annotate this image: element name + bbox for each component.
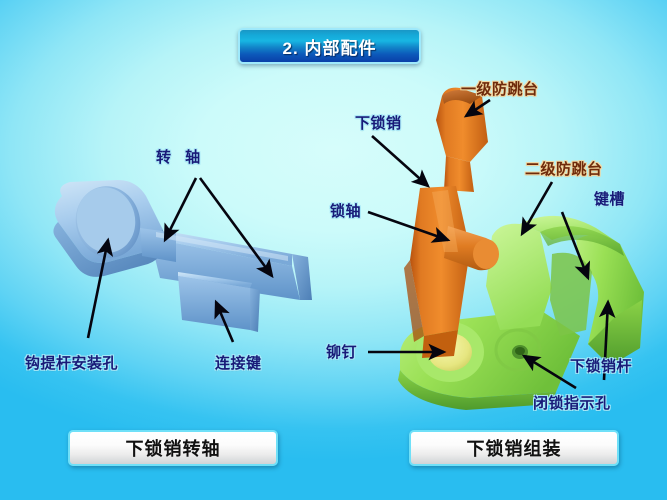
label-rivet: 铆钉 xyxy=(326,341,357,362)
label-secondary-anti-jump: 二级防跳台 xyxy=(525,158,603,179)
label-key-slot: 键槽 xyxy=(594,188,625,209)
right-caption-text: 下锁销组装 xyxy=(467,435,562,461)
blue-pivot-shaft-part xyxy=(53,179,312,332)
label-lower-lock-pin-rod: 下锁销杆 xyxy=(570,355,632,376)
label-lock-shaft: 锁轴 xyxy=(330,200,361,221)
label-lower-lock-pin: 下锁销 xyxy=(355,112,402,133)
label-primary-anti-jump: 一级防跳台 xyxy=(461,78,539,99)
title-banner: 2. 内部配件 xyxy=(238,28,421,64)
label-connecting-key: 连接键 xyxy=(215,352,262,373)
left-caption-box: 下锁销转轴 xyxy=(68,430,278,466)
right-caption-box: 下锁销组装 xyxy=(409,430,619,466)
page-title: 2. 内部配件 xyxy=(283,34,377,59)
green-lock-body-part xyxy=(398,216,644,410)
label-lock-indicator-hole: 闭锁指示孔 xyxy=(533,392,611,413)
left-caption-text: 下锁销转轴 xyxy=(126,435,221,461)
label-pivot-shaft: 转 轴 xyxy=(156,146,205,167)
orange-lock-pin-part xyxy=(404,88,499,358)
illustration-layer xyxy=(0,0,667,500)
label-hook-lift-rod-hole: 钩提杆安装孔 xyxy=(25,352,118,373)
slide-canvas: 2. 内部配件 转 轴 钩提杆安装孔 连接键 下锁销 锁轴 一级防跳台 二级防跳… xyxy=(0,0,667,500)
